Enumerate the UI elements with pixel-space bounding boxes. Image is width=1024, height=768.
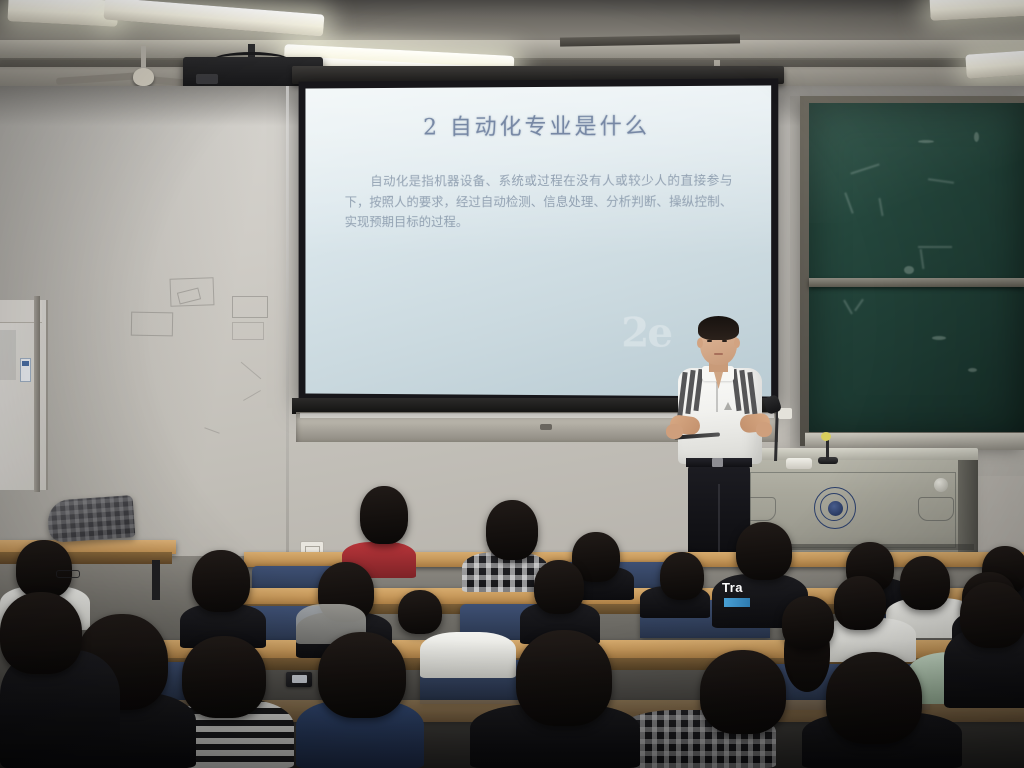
slide-title: 2 自动化专业是什么 bbox=[305, 108, 771, 142]
student-head bbox=[960, 582, 1024, 648]
student-head bbox=[486, 500, 538, 560]
student-head bbox=[398, 590, 442, 634]
student-torso bbox=[420, 632, 516, 678]
presenter-ear bbox=[697, 338, 703, 348]
presenter-ear bbox=[734, 338, 740, 348]
microphone-stem bbox=[826, 438, 829, 460]
screen-rail-knob bbox=[540, 424, 552, 430]
student-head bbox=[516, 630, 612, 726]
student-head bbox=[534, 560, 584, 614]
student-head bbox=[192, 550, 250, 612]
wall-marking bbox=[232, 322, 264, 340]
chalk-mark bbox=[918, 246, 952, 248]
tshirt-graphic-swatch bbox=[724, 598, 750, 607]
chalk-mark bbox=[918, 140, 934, 143]
fluorescent-tube-light-icon bbox=[965, 49, 1024, 79]
student-head bbox=[318, 632, 406, 718]
student-head bbox=[660, 552, 704, 600]
shirt-placket bbox=[716, 382, 718, 412]
wall-marking bbox=[131, 312, 173, 337]
chalkboard-panel-divider bbox=[809, 278, 1024, 287]
chalkboard-glare bbox=[809, 103, 1024, 223]
presenter-eye bbox=[722, 340, 727, 342]
presenter-eye bbox=[707, 340, 712, 342]
student-head bbox=[0, 592, 82, 674]
table-leg bbox=[152, 560, 160, 600]
phone-screen bbox=[292, 675, 307, 683]
student-head bbox=[834, 576, 886, 630]
wall-cabinet-label bbox=[20, 358, 31, 382]
chalkboard[interactable] bbox=[800, 96, 1024, 446]
chalk-mark bbox=[974, 132, 979, 142]
presenter-left-hand bbox=[666, 424, 683, 439]
paper-on-podium bbox=[786, 458, 812, 469]
student-head bbox=[182, 636, 266, 718]
presenter-mouth bbox=[714, 353, 723, 355]
wall-corner-edge bbox=[286, 86, 289, 556]
student-head bbox=[900, 556, 950, 610]
student-head bbox=[782, 596, 834, 650]
podium-vent-icon bbox=[918, 497, 954, 521]
wall-cabinet-panel bbox=[0, 330, 16, 380]
student-head bbox=[16, 540, 72, 598]
microphone-icon bbox=[821, 432, 831, 441]
ceiling-fan-icon bbox=[133, 68, 154, 86]
student-head bbox=[360, 486, 408, 544]
projector-lens bbox=[196, 74, 218, 84]
wall-cabinet[interactable] bbox=[0, 300, 48, 490]
glasses-icon bbox=[56, 570, 80, 578]
chalk-mark bbox=[968, 368, 977, 372]
lecture-hall-photo: 2 自动化专业是什么 自动化是指机器设备、系统或过程在没有人或较少人的直接参与下… bbox=[0, 0, 1024, 768]
plaid-backpack bbox=[47, 495, 136, 543]
student-head bbox=[826, 652, 922, 744]
chalk-mark bbox=[932, 336, 946, 340]
university-emblem-icon bbox=[814, 487, 856, 529]
presenter-right-hand bbox=[756, 422, 772, 437]
slide-body-text: 自动化是指机器设备、系统或过程在没有人或较少人的直接参与下，按照人的要求，经过自… bbox=[345, 170, 733, 233]
belt-buckle-icon bbox=[712, 458, 723, 467]
chalk-mark bbox=[904, 266, 914, 274]
emblem-core bbox=[828, 501, 843, 516]
podium-control-knob[interactable] bbox=[934, 478, 948, 492]
wall-cabinet-frame bbox=[34, 296, 40, 492]
student-head bbox=[736, 522, 792, 580]
presenter-hair bbox=[698, 316, 739, 340]
tshirt-graphic-text: Tra bbox=[722, 580, 743, 595]
wall-marking bbox=[232, 296, 268, 318]
student-head bbox=[700, 650, 786, 734]
